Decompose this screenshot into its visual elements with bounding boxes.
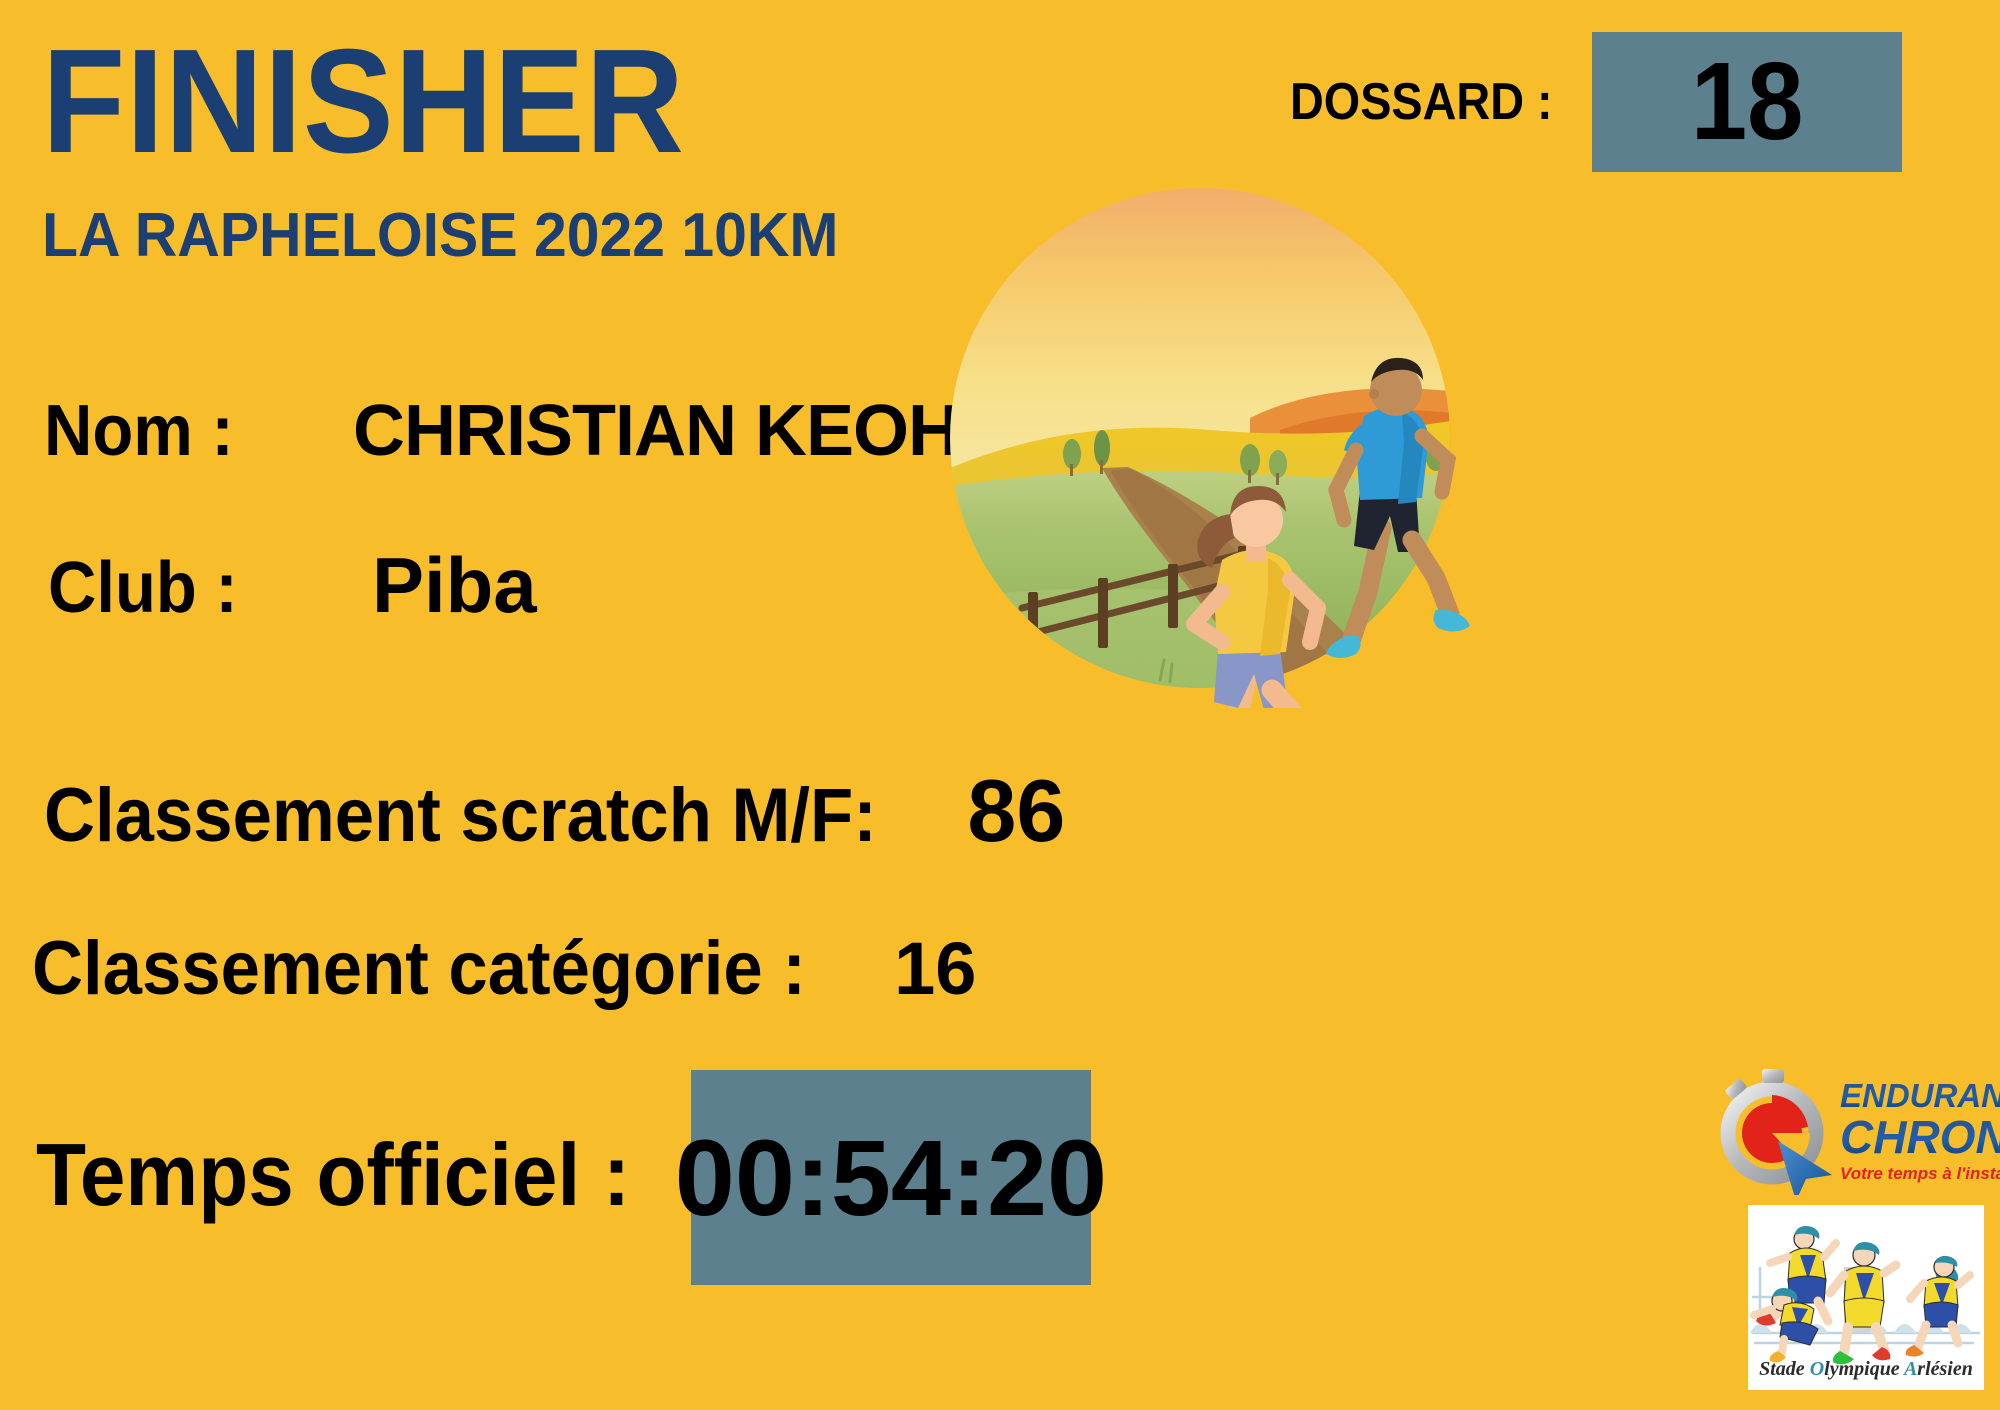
dossard-box: 18: [1592, 32, 1902, 172]
endurance-text: ENDURANCE: [1840, 1077, 2000, 1114]
classement-categorie-value: 16: [894, 926, 976, 1011]
dossard-value: 18: [1691, 47, 1804, 157]
endurance-chrono-logo: ENDURANCE CHRONO Votre temps à l'instant…: [1700, 1055, 2000, 1195]
classement-categorie-row: Classement catégorie : 16: [32, 925, 976, 1012]
dossard-label: DOSSARD :: [1290, 72, 1553, 132]
nom-label: Nom :: [44, 390, 234, 472]
temps-officiel-row: Temps officiel : 00:54:20: [36, 1070, 1091, 1285]
stade-name-text: Stade Olympique Arlésien: [1759, 1358, 1973, 1380]
classement-categorie-label: Classement catégorie :: [32, 925, 806, 1012]
race-subtitle: LA RAPHELOISE 2022 10KM: [42, 205, 838, 267]
club-row: Club : Piba: [48, 540, 537, 631]
finisher-certificate: FINISHER LA RAPHELOISE 2022 10KM DOSSARD…: [0, 0, 2000, 1410]
runners-countryside-illustration: [950, 168, 1490, 708]
club-label: Club :: [48, 547, 238, 629]
classement-scratch-value: 86: [967, 760, 1065, 862]
classement-scratch-label: Classement scratch M/F:: [44, 772, 877, 859]
temps-officiel-value: 00:54:20: [675, 1124, 1107, 1232]
page-title: FINISHER: [42, 28, 685, 176]
temps-officiel-box: 00:54:20: [691, 1070, 1091, 1285]
classement-scratch-row: Classement scratch M/F: 86: [44, 760, 1065, 862]
temps-officiel-label: Temps officiel :: [36, 1131, 630, 1225]
dossard-row: DOSSARD : 18: [1290, 32, 1902, 172]
endurance-tagline-text: Votre temps à l'instant T: [1840, 1164, 2000, 1183]
club-value: Piba: [372, 540, 537, 631]
stade-olympique-arlesien-logo: Stade Olympique Arlésien: [1748, 1205, 1984, 1390]
chrono-text: CHRONO: [1840, 1111, 2000, 1163]
